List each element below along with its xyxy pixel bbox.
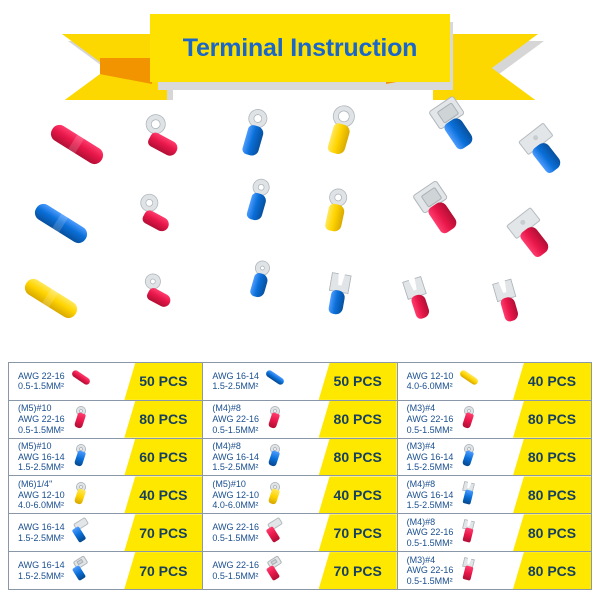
table-cell: (M5)#10 AWG 16-14 1.5-2.5MM²60 PCS	[9, 439, 203, 476]
spec-text: AWG 22-16 0.5-1.5MM²	[18, 371, 65, 392]
quantity-text: 80 PCS	[528, 487, 576, 503]
table-cell: (M4)#8 AWG 22-16 0.5-1.5MM²80 PCS	[398, 514, 591, 551]
spec-block: (M3)#4 AWG 22-16 0.5-1.5MM²	[398, 552, 523, 589]
table-cell: (M5)#10 AWG 12-10 4.0-6.0MM²40 PCS	[203, 476, 397, 513]
infographic-page: Terminal Instruction	[0, 0, 600, 600]
terminal-thumbnail	[456, 480, 482, 510]
spec-block: (M4)#8 AWG 16-14 1.5-2.5MM²	[398, 476, 523, 513]
quantity-badge: 80 PCS	[513, 439, 591, 476]
quantity-badge: 40 PCS	[319, 476, 397, 513]
spec-text: (M5)#10 AWG 22-16 0.5-1.5MM²	[18, 403, 65, 435]
spec-block: (M4)#8 AWG 16-14 1.5-2.5MM²	[203, 439, 328, 476]
terminal-thumbnail	[456, 518, 482, 548]
quantity-badge: 80 PCS	[513, 514, 591, 551]
page-title: Terminal Instruction	[183, 34, 417, 63]
quantity-badge: 70 PCS	[124, 514, 202, 551]
spec-text: (M3)#4 AWG 16-14 1.5-2.5MM²	[407, 441, 454, 473]
quantity-text: 40 PCS	[334, 487, 382, 503]
quantity-badge: 70 PCS	[319, 514, 397, 551]
quantity-text: 80 PCS	[139, 411, 187, 427]
terminal-thumbnail	[456, 366, 482, 396]
spec-block: AWG 16-14 1.5-2.5MM²	[9, 552, 134, 589]
quantity-text: 80 PCS	[528, 411, 576, 427]
quantity-text: 50 PCS	[334, 373, 382, 389]
table-cell: (M3)#4 AWG 16-14 1.5-2.5MM²80 PCS	[398, 439, 591, 476]
spec-block: AWG 16-14 1.5-2.5MM²	[203, 363, 328, 400]
spec-block: (M3)#4 AWG 22-16 0.5-1.5MM²	[398, 401, 523, 438]
spec-text: (M4)#8 AWG 22-16 0.5-1.5MM²	[212, 403, 259, 435]
table-row: AWG 16-14 1.5-2.5MM²70 PCSAWG 22-16 0.5-…	[9, 514, 591, 552]
terminal-thumbnail	[68, 518, 94, 548]
quantity-badge: 80 PCS	[513, 401, 591, 438]
butt-connector-red	[48, 122, 106, 167]
spec-text: (M3)#4 AWG 22-16 0.5-1.5MM²	[407, 555, 454, 587]
spec-text: AWG 12-10 4.0-6.0MM²	[407, 371, 454, 392]
product-photo	[0, 100, 600, 352]
quantity-badge: 80 PCS	[513, 552, 591, 589]
terminal-thumbnail	[68, 556, 94, 586]
butt-connector-yellow	[22, 276, 80, 321]
terminal-thumbnail	[68, 366, 94, 396]
spec-block: (M4)#8 AWG 22-16 0.5-1.5MM²	[398, 514, 523, 551]
spec-text: AWG 16-14 1.5-2.5MM²	[212, 371, 259, 392]
quantity-text: 40 PCS	[139, 487, 187, 503]
terminal-thumbnail	[262, 404, 288, 434]
terminal-thumbnail	[262, 518, 288, 548]
table-cell: AWG 12-10 4.0-6.0MM²40 PCS	[398, 363, 591, 400]
quantity-text: 80 PCS	[528, 449, 576, 465]
quantity-badge: 80 PCS	[319, 401, 397, 438]
table-row: (M6)1/4'' AWG 12-10 4.0-6.0MM²40 PCS(M5)…	[9, 476, 591, 514]
table-row: AWG 22-16 0.5-1.5MM²50 PCSAWG 16-14 1.5-…	[9, 363, 591, 401]
table-cell: (M4)#8 AWG 16-14 1.5-2.5MM²80 PCS	[203, 439, 397, 476]
butt-connector-blue	[32, 201, 90, 246]
table-cell: AWG 22-16 0.5-1.5MM²50 PCS	[9, 363, 203, 400]
banner-panel: Terminal Instruction	[150, 14, 450, 82]
spec-text: (M4)#8 AWG 22-16 0.5-1.5MM²	[407, 517, 454, 549]
spec-text: (M5)#10 AWG 16-14 1.5-2.5MM²	[18, 441, 65, 473]
spec-block: (M3)#4 AWG 16-14 1.5-2.5MM²	[398, 439, 523, 476]
quantity-text: 80 PCS	[334, 411, 382, 427]
spec-text: (M4)#8 AWG 16-14 1.5-2.5MM²	[407, 479, 454, 511]
quantity-badge: 50 PCS	[124, 363, 202, 400]
terminal-thumbnail	[456, 442, 482, 472]
terminal-thumbnail	[68, 404, 94, 434]
table-cell: (M4)#8 AWG 16-14 1.5-2.5MM²80 PCS	[398, 476, 591, 513]
table-cell: (M6)1/4'' AWG 12-10 4.0-6.0MM²40 PCS	[9, 476, 203, 513]
quantity-text: 50 PCS	[139, 373, 187, 389]
spec-block: (M5)#10 AWG 12-10 4.0-6.0MM²	[203, 476, 328, 513]
spec-text: AWG 22-16 0.5-1.5MM²	[212, 522, 259, 543]
spec-block: (M5)#10 AWG 16-14 1.5-2.5MM²	[9, 439, 134, 476]
quantity-badge: 40 PCS	[513, 363, 591, 400]
terminal-thumbnail	[262, 442, 288, 472]
quantity-text: 80 PCS	[528, 525, 576, 541]
quantity-badge: 40 PCS	[124, 476, 202, 513]
table-cell: (M3)#4 AWG 22-16 0.5-1.5MM²80 PCS	[398, 401, 591, 438]
spec-block: (M5)#10 AWG 22-16 0.5-1.5MM²	[9, 401, 134, 438]
spec-text: AWG 16-14 1.5-2.5MM²	[18, 522, 65, 543]
spec-text: AWG 16-14 1.5-2.5MM²	[18, 560, 65, 581]
terminal-thumbnail	[262, 556, 288, 586]
quantity-badge: 80 PCS	[124, 401, 202, 438]
table-cell: AWG 22-16 0.5-1.5MM²70 PCS	[203, 552, 397, 589]
table-cell: (M3)#4 AWG 22-16 0.5-1.5MM²80 PCS	[398, 552, 591, 589]
spec-block: AWG 16-14 1.5-2.5MM²	[9, 514, 134, 551]
spec-block: (M4)#8 AWG 22-16 0.5-1.5MM²	[203, 401, 328, 438]
terminal-thumbnail	[262, 480, 288, 510]
quantity-text: 80 PCS	[528, 563, 576, 579]
quantity-badge: 50 PCS	[319, 363, 397, 400]
quantity-text: 60 PCS	[139, 449, 187, 465]
quantity-badge: 80 PCS	[319, 439, 397, 476]
table-cell: AWG 16-14 1.5-2.5MM²70 PCS	[9, 552, 203, 589]
table-row: (M5)#10 AWG 22-16 0.5-1.5MM²80 PCS(M4)#8…	[9, 401, 591, 439]
spec-text: (M3)#4 AWG 22-16 0.5-1.5MM²	[407, 403, 454, 435]
table-cell: AWG 16-14 1.5-2.5MM²50 PCS	[203, 363, 397, 400]
terminal-thumbnail	[456, 556, 482, 586]
quantity-badge: 80 PCS	[513, 476, 591, 513]
quantity-badge: 70 PCS	[124, 552, 202, 589]
banner: Terminal Instruction	[0, 0, 600, 108]
quantity-text: 80 PCS	[334, 449, 382, 465]
quantity-text: 70 PCS	[334, 525, 382, 541]
quantity-badge: 70 PCS	[319, 552, 397, 589]
quantity-text: 70 PCS	[139, 525, 187, 541]
spec-text: (M6)1/4'' AWG 12-10 4.0-6.0MM²	[18, 479, 65, 511]
table-cell: AWG 22-16 0.5-1.5MM²70 PCS	[203, 514, 397, 551]
table-row: AWG 16-14 1.5-2.5MM²70 PCSAWG 22-16 0.5-…	[9, 552, 591, 589]
table-cell: AWG 16-14 1.5-2.5MM²70 PCS	[9, 514, 203, 551]
spec-block: AWG 22-16 0.5-1.5MM²	[203, 552, 328, 589]
quantity-text: 70 PCS	[139, 563, 187, 579]
spec-block: (M6)1/4'' AWG 12-10 4.0-6.0MM²	[9, 476, 134, 513]
terminal-thumbnail	[262, 366, 288, 396]
terminal-thumbnail	[68, 480, 94, 510]
quantity-text: 40 PCS	[528, 373, 576, 389]
table-row: (M5)#10 AWG 16-14 1.5-2.5MM²60 PCS(M4)#8…	[9, 439, 591, 477]
spec-block: AWG 22-16 0.5-1.5MM²	[9, 363, 134, 400]
terminal-thumbnail	[68, 442, 94, 472]
spec-text: (M4)#8 AWG 16-14 1.5-2.5MM²	[212, 441, 259, 473]
specification-table: AWG 22-16 0.5-1.5MM²50 PCSAWG 16-14 1.5-…	[8, 362, 592, 590]
table-cell: (M4)#8 AWG 22-16 0.5-1.5MM²80 PCS	[203, 401, 397, 438]
quantity-badge: 60 PCS	[124, 439, 202, 476]
quantity-text: 70 PCS	[334, 563, 382, 579]
spec-block: AWG 22-16 0.5-1.5MM²	[203, 514, 328, 551]
spec-text: AWG 22-16 0.5-1.5MM²	[212, 560, 259, 581]
spec-text: (M5)#10 AWG 12-10 4.0-6.0MM²	[212, 479, 259, 511]
table-cell: (M5)#10 AWG 22-16 0.5-1.5MM²80 PCS	[9, 401, 203, 438]
terminal-thumbnail	[456, 404, 482, 434]
spec-block: AWG 12-10 4.0-6.0MM²	[398, 363, 523, 400]
